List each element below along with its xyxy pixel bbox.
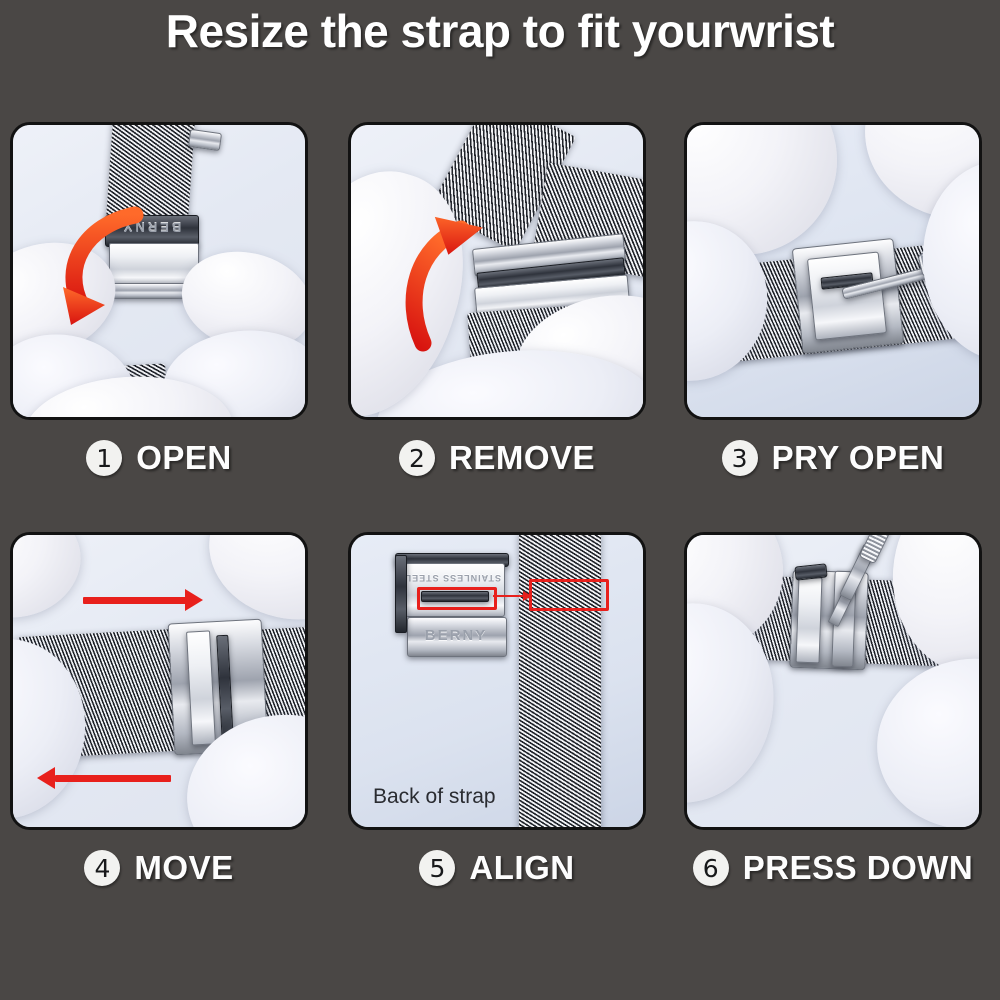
step-image-panel-4	[10, 532, 308, 830]
step-image-panel-3	[684, 122, 982, 420]
step-badge-4: 4	[84, 850, 120, 886]
photo-open: BERNY	[13, 125, 305, 417]
step-caption-1: 1 OPEN	[10, 428, 308, 488]
step-image-panel-5: STAINLESS STEEL BERNY Back of strap	[348, 532, 646, 830]
material-engraving-stainless-steel: STAINLESS STEEL	[407, 573, 501, 583]
photo-align: STAINLESS STEEL BERNY Back of strap	[351, 535, 643, 827]
arrow-move-right-shaft	[83, 597, 187, 604]
step-label-5: ALIGN	[469, 849, 574, 887]
steps-grid: BERNY	[0, 0, 1000, 1000]
step-badge-6: 6	[693, 850, 729, 886]
step-image-panel-6	[684, 532, 982, 830]
step-image-panel-2	[348, 122, 646, 420]
step-label-6: PRESS DOWN	[743, 849, 974, 887]
arrow-move-left-shaft	[55, 775, 171, 782]
photo-move	[13, 535, 305, 827]
step-card-5: STAINLESS STEEL BERNY Back of strap 5 AL…	[348, 532, 646, 902]
step-badge-5: 5	[419, 850, 455, 886]
step-caption-3: 3 PRY OPEN	[684, 428, 982, 488]
step-badge-3: 3	[722, 440, 758, 476]
photo-caption-back-of-strap: Back of strap	[373, 785, 496, 809]
highlight-box-mesh-target	[529, 579, 609, 611]
photo-pry-open	[687, 125, 979, 417]
connector-arrow-shaft	[493, 595, 525, 597]
step-caption-6: 6 PRESS DOWN	[684, 838, 982, 898]
clasp-lever-plate	[796, 577, 823, 664]
step-caption-5: 5 ALIGN	[348, 838, 646, 898]
clasp-side-rail	[395, 555, 407, 633]
step-label-4: MOVE	[134, 849, 233, 887]
step-badge-2: 2	[399, 440, 435, 476]
step-label-2: REMOVE	[449, 439, 595, 477]
step-caption-4: 4 MOVE	[10, 838, 308, 898]
arrow-move-left-head	[37, 767, 55, 789]
step-card-1: BERNY	[10, 122, 308, 492]
highlight-box-clasp-slot	[417, 587, 497, 610]
step-image-panel-1: BERNY	[10, 122, 308, 420]
step-badge-1: 1	[86, 440, 122, 476]
photo-press-down	[687, 535, 979, 827]
arrow-move-right-head	[185, 589, 203, 611]
step-caption-2: 2 REMOVE	[348, 428, 646, 488]
arrow-open-curved	[51, 201, 181, 341]
step-card-4: 4 MOVE	[10, 532, 308, 902]
photo-remove	[351, 125, 643, 417]
step-label-3: PRY OPEN	[772, 439, 945, 477]
brand-engraving-berny: BERNY	[409, 627, 503, 644]
step-label-1: OPEN	[136, 439, 232, 477]
step-card-3: 3 PRY OPEN	[684, 122, 982, 492]
step-card-6: 6 PRESS DOWN	[684, 532, 982, 902]
connector-arrow-head	[523, 591, 532, 601]
arrow-remove-curved	[387, 203, 527, 363]
step-card-2: 2 REMOVE	[348, 122, 646, 492]
